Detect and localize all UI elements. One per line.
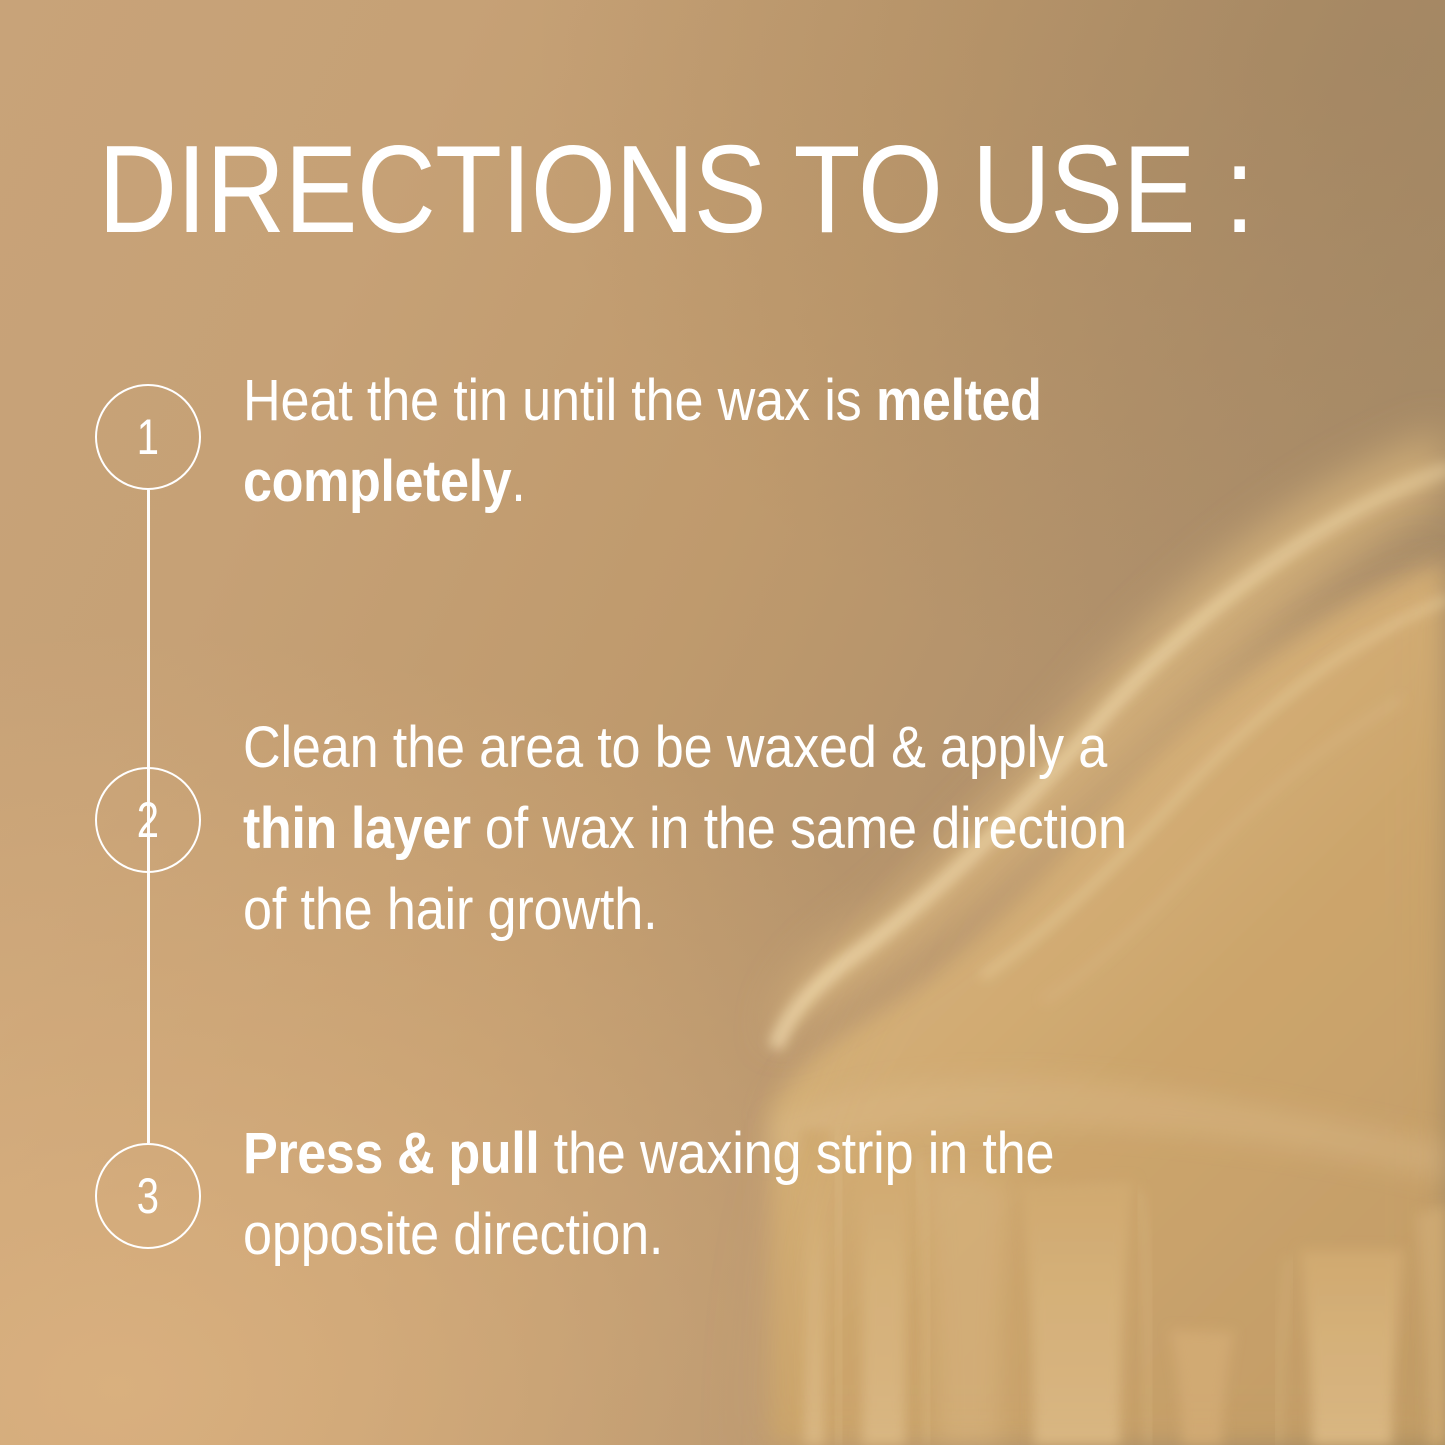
step-number-3: 3 bbox=[137, 1171, 159, 1221]
step-marker-3: 3 bbox=[95, 1143, 201, 1249]
step-text-1: Heat the tin until the wax is melted com… bbox=[243, 360, 1139, 522]
step-marker-1: 1 bbox=[95, 384, 201, 490]
page-title: DIRECTIONS TO USE : bbox=[98, 128, 1254, 252]
step-marker-2: 2 bbox=[95, 767, 201, 873]
step-number-1: 1 bbox=[137, 412, 159, 462]
instruction-card: DIRECTIONS TO USE : 1 Heat the tin until… bbox=[0, 0, 1445, 1445]
step-number-2: 2 bbox=[137, 795, 159, 845]
step-text-2: Clean the area to be waxed & apply a thi… bbox=[243, 707, 1139, 950]
step-text-3: Press & pull the waxing strip in the opp… bbox=[243, 1113, 1139, 1275]
